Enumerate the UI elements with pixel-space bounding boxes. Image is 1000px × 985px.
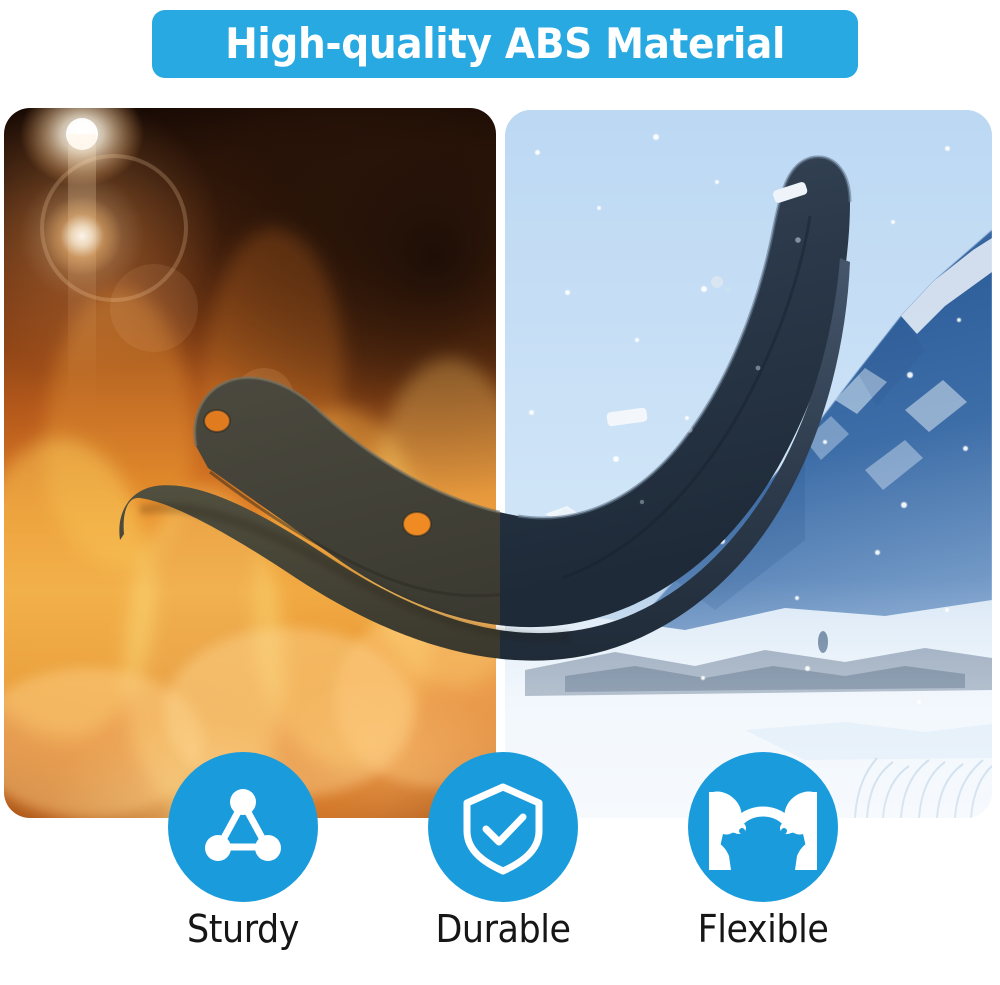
feature-sturdy[interactable]: Sturdy — [158, 752, 328, 948]
feature-durable-label: Durable — [425, 910, 581, 948]
snowflake — [841, 306, 846, 311]
snowflake — [565, 290, 570, 295]
snowflake — [685, 416, 689, 420]
snowflake — [597, 206, 601, 210]
molecule-triangle-icon — [197, 781, 289, 873]
snowflake — [635, 338, 639, 342]
snowflake — [945, 608, 949, 612]
snowflake — [535, 150, 540, 155]
snowflake — [823, 440, 827, 444]
feature-durable-circle — [428, 752, 578, 902]
snowflake — [907, 372, 913, 378]
snowflake — [557, 534, 562, 539]
feature-flexible-circle — [688, 752, 838, 902]
feature-flexible-label: Flexible — [685, 910, 841, 948]
page-title: High-quality ABS Material — [225, 23, 785, 65]
title-banner: High-quality ABS Material — [152, 10, 858, 78]
snowflake — [653, 134, 659, 140]
ice-scene-panel — [505, 110, 992, 818]
snow-mountain-illustration — [505, 110, 992, 818]
feature-durable[interactable]: Durable — [418, 752, 588, 948]
fire-scene-panel — [4, 108, 496, 818]
snowflake — [805, 666, 810, 671]
snowflake — [957, 318, 961, 322]
snowflake — [795, 596, 799, 600]
snowflake — [875, 550, 880, 555]
snowflake — [701, 286, 707, 292]
snowflake — [901, 502, 907, 508]
snowflake — [825, 168, 831, 174]
snowflake — [891, 220, 895, 224]
snowflake — [613, 456, 619, 462]
feature-sturdy-circle — [168, 752, 318, 902]
snowflake — [773, 240, 778, 245]
feature-sturdy-label: Sturdy — [165, 910, 321, 948]
snowflake — [761, 362, 765, 366]
snowflake — [917, 700, 921, 704]
sun-flare-icon — [4, 108, 496, 818]
feature-flexible[interactable]: Flexible — [678, 752, 848, 948]
snowflake — [963, 446, 968, 451]
snowflake — [715, 180, 719, 184]
snowflake — [945, 146, 950, 151]
shield-check-icon — [457, 779, 549, 875]
snowflake — [645, 578, 649, 582]
product-feature-image: High-quality ABS Material — [0, 0, 1000, 985]
snowflake — [583, 650, 588, 655]
snowflake — [701, 676, 705, 680]
snowflake — [529, 410, 534, 415]
snowflake — [719, 538, 725, 544]
snowflake — [751, 490, 756, 495]
hands-bending-bar-icon — [709, 784, 817, 870]
